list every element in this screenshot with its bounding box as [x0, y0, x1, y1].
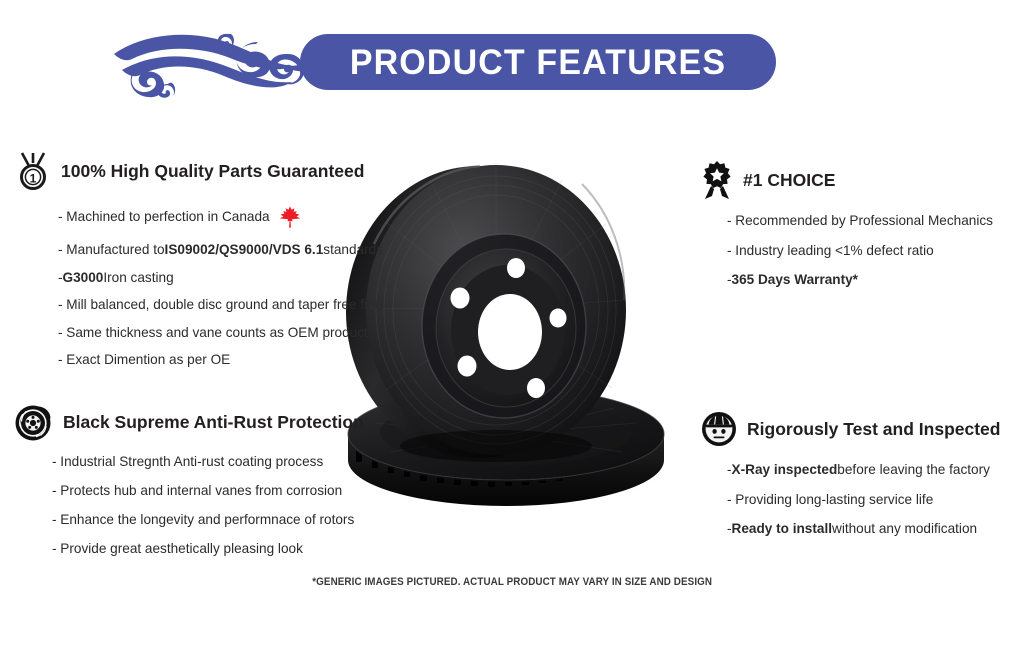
medal-first-place-icon: 1	[14, 150, 52, 192]
feature-inspected-header: Rigorously Test and Inspected	[700, 410, 1000, 448]
feature-quality: 1 100% High Quality Parts Guaranteed - M…	[14, 150, 392, 381]
feature-anti-rust: Black Supreme Anti-Rust Protection - Ind…	[14, 402, 364, 571]
footer: *GENERIC IMAGES PICTURED. ACTUAL PRODUCT…	[0, 572, 1024, 590]
list-item: - Providing long-lasting service life	[727, 493, 1000, 507]
list-item: - Enhance the longevity and performnace …	[52, 513, 364, 527]
maple-leaf-icon	[278, 205, 302, 229]
feature-quality-header: 1 100% High Quality Parts Guaranteed	[14, 150, 392, 192]
list-item: - Industrial Stregnth Anti-rust coating …	[52, 455, 364, 469]
banner-pill: PRODUCT FEATURES	[300, 34, 776, 90]
feature-choice-header: #1 CHOICE	[700, 160, 993, 200]
feature-inspected-title: Rigorously Test and Inspected	[747, 419, 1000, 440]
svg-text:1: 1	[30, 172, 37, 186]
feature-anti-rust-title: Black Supreme Anti-Rust Protection	[63, 412, 364, 433]
disclaimer-note: *GENERIC IMAGES PICTURED. ACTUAL PRODUCT…	[312, 576, 712, 588]
feature-anti-rust-bullets: - Industrial Stregnth Anti-rust coating …	[52, 455, 364, 556]
feature-quality-title: 100% High Quality Parts Guaranteed	[61, 161, 364, 182]
list-item: - Same thickness and vane counts as OEM …	[58, 326, 392, 340]
list-item: - 365 Days Warranty*	[727, 273, 993, 287]
list-item: - Ready to install without any modificat…	[727, 522, 1000, 536]
list-item: - Provide great aesthetically pleasing l…	[52, 542, 364, 556]
feature-anti-rust-header: Black Supreme Anti-Rust Protection	[14, 402, 364, 442]
header-banner: PRODUCT FEATURES	[0, 0, 1024, 120]
feature-inspected-bullets: - X-Ray inspected before leaving the fac…	[727, 463, 1000, 536]
feature-quality-bullets: - Machined to perfection in Canada - Man…	[58, 205, 392, 367]
ornamental-swirl-icon	[108, 26, 318, 98]
list-item: - Manufactured to IS09002/QS9000/VDS 6.1…	[58, 243, 392, 257]
list-item: - Exact Dimention as per OE	[58, 353, 392, 367]
list-item: - X-Ray inspected before leaving the fac…	[727, 463, 1000, 477]
list-item: - Industry leading <1% defect ratio	[727, 244, 993, 258]
page-title: PRODUCT FEATURES	[350, 45, 726, 80]
list-item: - Machined to perfection in Canada	[58, 205, 392, 229]
list-item: - Mill balanced, double disc ground and …	[58, 298, 392, 312]
award-rosette-icon	[700, 160, 734, 200]
feature-choice-bullets: - Recommended by Professional Mechanics …	[727, 214, 993, 287]
list-item: - Protects hub and internal vanes from c…	[52, 484, 364, 498]
hard-hat-inspector-icon	[700, 410, 738, 448]
feature-choice: #1 CHOICE - Recommended by Professional …	[700, 160, 993, 303]
feature-choice-title: #1 CHOICE	[743, 170, 835, 191]
feature-inspected: Rigorously Test and Inspected - X-Ray in…	[700, 410, 1000, 552]
list-item: - G3000 Iron casting	[58, 271, 392, 285]
list-item: - Recommended by Professional Mechanics	[727, 214, 993, 228]
brake-rotor-caliper-icon	[14, 402, 54, 442]
